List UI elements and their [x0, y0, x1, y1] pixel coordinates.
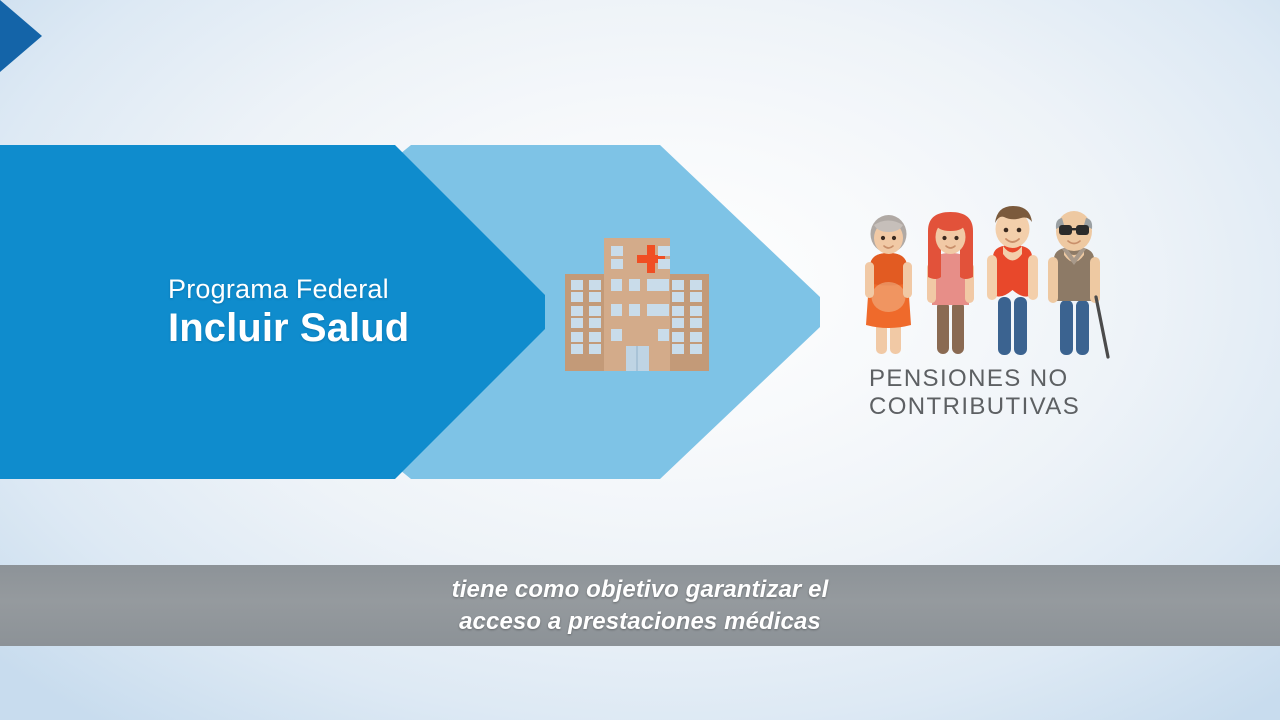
subtitle-bar: tiene como objetivo garantizar el acceso…: [0, 565, 1280, 646]
hospital-window: [611, 259, 623, 269]
elderly-man-cane-figure-icon: [1048, 211, 1108, 357]
hospital-window: [571, 280, 583, 290]
hospital-window: [690, 292, 702, 302]
hospital-window: [690, 306, 702, 316]
hospital-window: [589, 280, 601, 290]
pension-label: PENSIONES NO CONTRIBUTIVAS: [869, 365, 1119, 422]
hospital-window: [629, 304, 640, 316]
hospital-window: [611, 246, 623, 256]
hospital-window: [690, 318, 702, 328]
program-title-line2: Incluir Salud: [168, 308, 508, 348]
hospital-window: [647, 304, 658, 316]
arrow-tip-icon: [0, 0, 42, 72]
elderly-woman-figure-icon: [865, 215, 912, 354]
people-group-icon: [862, 205, 1110, 360]
hospital-building-icon: [565, 238, 709, 371]
hospital-window: [672, 280, 684, 290]
hospital-window: [611, 329, 622, 341]
hospital-window: [611, 279, 622, 291]
hospital-window: [589, 318, 601, 328]
hospital-window: [571, 344, 583, 354]
hospital-window: [589, 332, 601, 342]
hospital-door-split: [636, 346, 638, 371]
hospital-window: [571, 332, 583, 342]
hospital-window: [611, 304, 622, 316]
hospital-window: [658, 279, 669, 291]
subtitle-line1: tiene como objetivo garantizar el: [452, 574, 829, 606]
hospital-window: [658, 304, 669, 316]
hospital-window: [571, 318, 583, 328]
program-title: Programa Federal Incluir Salud: [168, 276, 508, 348]
hospital-window: [571, 292, 583, 302]
subtitle-line2: acceso a prestaciones médicas: [452, 606, 829, 638]
hospital-window: [672, 306, 684, 316]
hospital-window: [672, 332, 684, 342]
pension-label-line2: CONTRIBUTIVAS: [869, 393, 1119, 421]
walking-cane-icon: [1096, 297, 1108, 357]
hospital-window: [589, 292, 601, 302]
adult-man-figure-icon: [987, 206, 1038, 355]
hospital-window: [571, 306, 583, 316]
hospital-window: [690, 332, 702, 342]
young-woman-figure-icon: [927, 212, 974, 354]
hospital-window: [672, 344, 684, 354]
subtitle-text: tiene como objetivo garantizar el acceso…: [452, 574, 829, 637]
program-title-line1: Programa Federal: [168, 276, 508, 303]
hospital-window: [658, 259, 670, 269]
hospital-window: [589, 344, 601, 354]
hospital-window: [690, 280, 702, 290]
hospital-window: [629, 279, 640, 291]
hospital-window: [647, 279, 658, 291]
video-frame: Programa Federal Incluir Salud: [0, 0, 1280, 720]
hospital-window: [658, 329, 669, 341]
hospital-window: [672, 318, 684, 328]
hospital-window: [672, 292, 684, 302]
hospital-window: [589, 306, 601, 316]
hospital-window: [658, 246, 670, 256]
pension-label-line1: PENSIONES NO: [869, 365, 1119, 393]
hospital-window: [690, 344, 702, 354]
